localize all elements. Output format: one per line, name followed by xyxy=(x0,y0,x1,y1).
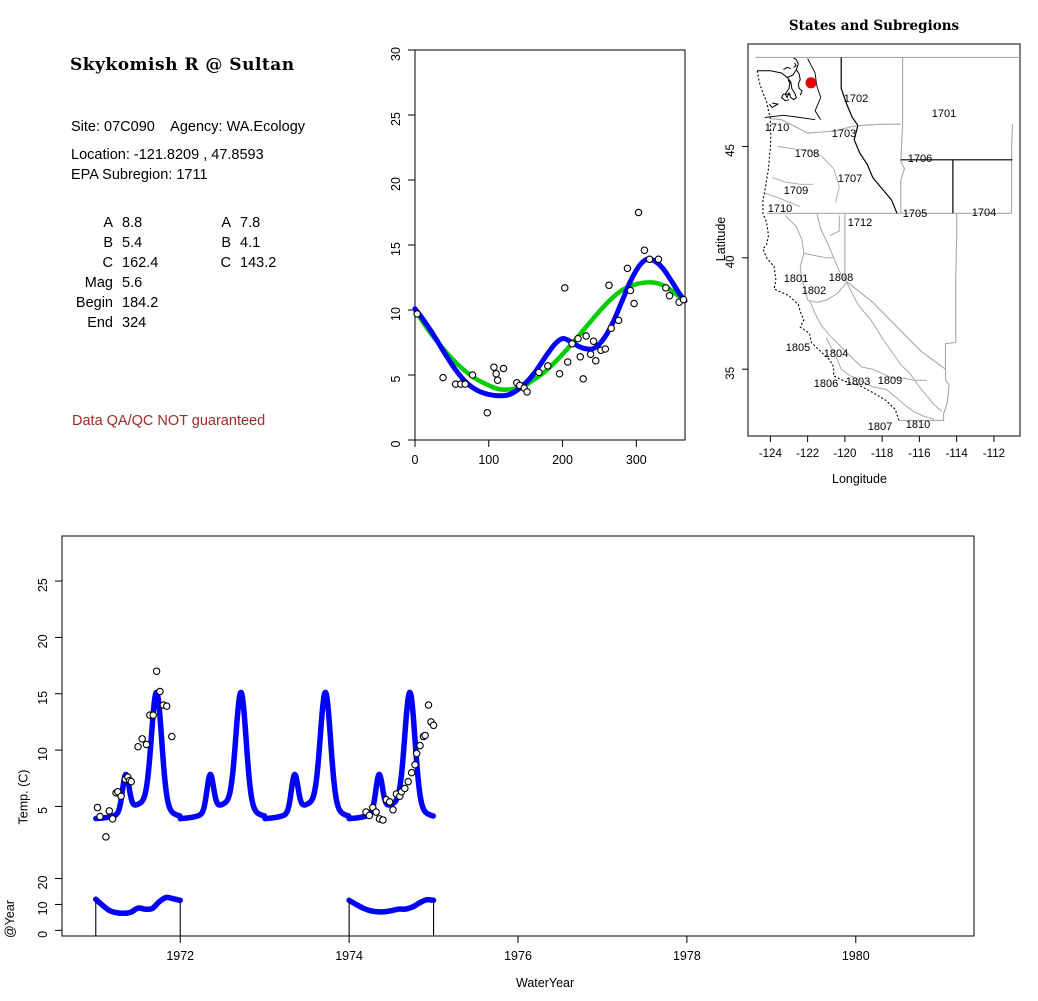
map-panel: States and Subregions -124-122-120-118-1… xyxy=(710,0,1038,500)
subregion-label: 1810 xyxy=(906,419,930,431)
stats-grid: A 8.8 A 7.8 B 5.4 B 4.1 C 162.4 C xyxy=(70,215,276,335)
data-point xyxy=(373,809,379,815)
map-title: States and Subregions xyxy=(710,18,1038,34)
data-point xyxy=(412,762,418,768)
data-point xyxy=(417,742,423,748)
y-tick-label: 25 xyxy=(389,112,403,126)
data-point xyxy=(484,410,490,416)
x-tick-label: -120 xyxy=(833,448,856,460)
x-tick-label: -122 xyxy=(796,448,819,460)
data-point xyxy=(94,804,100,810)
y-tick-label: 10 xyxy=(36,747,50,761)
data-point xyxy=(103,834,109,840)
data-point xyxy=(169,733,175,739)
y-tick-label: 25 xyxy=(36,578,50,592)
y-tick-label: 0 xyxy=(389,440,403,447)
data-point xyxy=(565,359,571,365)
data-point xyxy=(641,247,647,253)
data-point xyxy=(500,365,506,371)
data-point xyxy=(615,317,621,323)
x-tick-label: -118 xyxy=(871,448,893,460)
subregion-label: 1710 xyxy=(768,203,792,215)
data-point xyxy=(536,369,542,375)
subregion-label: 1706 xyxy=(908,153,932,165)
x-tick-label: 1972 xyxy=(166,949,194,963)
data-point xyxy=(430,722,436,728)
subregion-label: 1805 xyxy=(786,342,810,354)
subregion-label: 1701 xyxy=(932,108,956,120)
data-point xyxy=(663,285,669,291)
data-point xyxy=(602,346,608,352)
stat-label: B xyxy=(70,235,122,255)
x-tick-label: 200 xyxy=(552,453,573,467)
subregion-label: 1712 xyxy=(848,217,872,229)
x-tick-label: 100 xyxy=(478,453,499,467)
map-y-axis-title: Latitude xyxy=(714,217,728,261)
subregion-label: 1801 xyxy=(784,273,808,285)
seasonal-scatter-chart: 051015202530 0100200300 xyxy=(380,0,710,500)
data-point xyxy=(569,341,575,347)
data-point xyxy=(150,712,156,718)
subregion-label: 1709 xyxy=(784,185,808,197)
y-tick-label: 5 xyxy=(36,807,50,814)
subregion-label: 1702 xyxy=(844,93,868,105)
x-tick-label: 1978 xyxy=(673,949,701,963)
data-point xyxy=(128,778,134,784)
data-point xyxy=(106,808,112,814)
data-point xyxy=(109,816,115,822)
stat-value: 8.8 xyxy=(122,215,196,235)
data-point xyxy=(366,812,372,818)
data-point xyxy=(386,799,392,805)
subregion-label: 1704 xyxy=(972,207,996,219)
data-point xyxy=(646,256,652,262)
data-point xyxy=(608,325,614,331)
y-tick-label: 10 xyxy=(389,307,403,321)
secondary-y-axis-title: @Year xyxy=(3,900,17,938)
data-point xyxy=(587,351,593,357)
subregion-label: 1710 xyxy=(765,122,789,134)
data-point xyxy=(164,703,170,709)
timeseries-panel: 510152025 01020 19721974197619781980 Wat… xyxy=(0,500,1038,1001)
subregion-label: 1708 xyxy=(795,148,819,160)
x-tick-label: 1974 xyxy=(335,949,363,963)
table-row: Begin 184.2 xyxy=(70,295,276,315)
subregion-label: 1707 xyxy=(838,173,862,185)
y2-tick-label: 20 xyxy=(36,876,50,890)
timeseries-x-axis-title: WaterYear xyxy=(516,976,574,990)
y2-tick-label: 10 xyxy=(36,901,50,915)
data-point xyxy=(680,296,686,302)
y-axis-ticks: 510152025 xyxy=(36,578,62,814)
data-point xyxy=(153,668,159,674)
data-point xyxy=(97,813,103,819)
figure-canvas: Skykomish R @ Sultan Site: 07C090 Agency… xyxy=(0,0,1038,1001)
timeseries-y-axis-title: Temp. (C) xyxy=(16,770,30,825)
data-point xyxy=(524,389,530,395)
stat-value: 162.4 xyxy=(122,255,196,275)
timeseries-chart: 510152025 01020 19721974197619781980 xyxy=(0,500,1038,1001)
map-x-axis-title: Longitude xyxy=(832,472,887,486)
stat-label: C xyxy=(70,255,122,275)
data-point xyxy=(390,807,396,813)
secondary-y-axis-ticks: 01020 xyxy=(36,876,62,938)
stat-value: 143.2 xyxy=(240,255,276,275)
data-point xyxy=(440,374,446,380)
data-point xyxy=(380,817,386,823)
x-tick-label: -124 xyxy=(759,448,783,460)
x-axis-ticks: 0100200300 xyxy=(412,440,647,467)
table-row: End 324 xyxy=(70,315,276,335)
stat-label: Mag xyxy=(70,275,122,295)
seasonal-scatter-panel: 051015202530 0100200300 xyxy=(380,0,710,500)
table-row: B 5.4 B 4.1 xyxy=(70,235,276,255)
y-tick-label: 5 xyxy=(389,375,403,382)
x-tick-label: 1976 xyxy=(504,949,532,963)
data-point xyxy=(157,688,163,694)
data-point xyxy=(402,785,408,791)
subregion-label: 1804 xyxy=(824,348,848,360)
data-point xyxy=(575,335,581,341)
stat-label: A xyxy=(70,215,122,235)
data-point xyxy=(405,778,411,784)
data-point xyxy=(462,381,468,387)
site-location-marker xyxy=(806,77,817,88)
states-subregions-map: -124-122-120-118-116-114-112354045 17021… xyxy=(710,0,1038,500)
x-tick-label: -114 xyxy=(946,448,969,460)
stat-value: 5.4 xyxy=(122,235,196,255)
stat-value: 184.2 xyxy=(122,295,196,315)
data-point xyxy=(422,732,428,738)
y-tick-label: 35 xyxy=(725,367,737,380)
site-info-panel: Skykomish R @ Sultan Site: 07C090 Agency… xyxy=(0,0,380,500)
data-point xyxy=(413,750,419,756)
page-title: Skykomish R @ Sultan xyxy=(70,55,295,75)
location-line: Location: -121.8209 , 47.8593 xyxy=(71,147,264,163)
y-tick-label: 30 xyxy=(389,47,403,61)
y-tick-label: 15 xyxy=(36,691,50,705)
data-point xyxy=(491,364,497,370)
data-point xyxy=(493,371,499,377)
data-point xyxy=(577,354,583,360)
qaqc-warning: Data QA/QC NOT guaranteed xyxy=(72,413,265,429)
data-point xyxy=(562,285,568,291)
subregion-label: 1808 xyxy=(829,272,853,284)
plot-frame xyxy=(62,536,974,936)
x-tick-label: 0 xyxy=(412,453,419,467)
data-point xyxy=(666,293,672,299)
stat-label: C xyxy=(196,255,240,275)
data-point xyxy=(635,209,641,215)
x-tick-label: 300 xyxy=(626,453,647,467)
statistics-table: A 8.8 A 7.8 B 5.4 B 4.1 C 162.4 C xyxy=(70,215,276,335)
data-point xyxy=(627,287,633,293)
y-tick-label: 20 xyxy=(36,634,50,648)
x-tick-label: 1980 xyxy=(842,949,870,963)
x-axis-ticks: 19721974197619781980 xyxy=(166,936,869,963)
table-row: A 8.8 A 7.8 xyxy=(70,215,276,235)
subregion-label: 1806 xyxy=(814,378,838,390)
data-point xyxy=(414,311,420,317)
data-point xyxy=(655,256,661,262)
y-tick-label: 15 xyxy=(389,242,403,256)
data-point xyxy=(408,769,414,775)
y-axis-ticks: 051015202530 xyxy=(389,47,415,447)
subregion-label: 1705 xyxy=(903,208,927,220)
stat-label: Begin xyxy=(70,295,122,315)
data-point xyxy=(425,702,431,708)
data-point xyxy=(469,372,475,378)
data-point xyxy=(139,736,145,742)
y2-tick-label: 0 xyxy=(36,931,50,938)
stat-value: 324 xyxy=(122,315,196,335)
data-point xyxy=(556,371,562,377)
site-agency-line: Site: 07C090 Agency: WA.Ecology xyxy=(71,119,305,135)
data-point xyxy=(580,376,586,382)
subregion-label: 1703 xyxy=(832,128,856,140)
data-point xyxy=(583,333,589,339)
stat-value: 5.6 xyxy=(122,275,196,295)
data-point xyxy=(118,793,124,799)
x-tick-label: -116 xyxy=(908,448,930,460)
subregion-label: 1809 xyxy=(878,375,902,387)
data-point xyxy=(545,363,551,369)
subregion-label: 1802 xyxy=(802,285,826,297)
epa-subregion-line: EPA Subregion: 1711 xyxy=(71,167,208,183)
data-point xyxy=(590,338,596,344)
table-row: C 162.4 C 143.2 xyxy=(70,255,276,275)
table-row: Mag 5.6 xyxy=(70,275,276,295)
data-point xyxy=(143,741,149,747)
subregion-label: 1807 xyxy=(868,421,892,433)
stat-label: B xyxy=(196,235,240,255)
y-tick-label: 20 xyxy=(389,177,403,191)
subregion-label: 1803 xyxy=(846,376,870,388)
stat-label: End xyxy=(70,315,122,335)
stat-label: A xyxy=(196,215,240,235)
data-point xyxy=(606,282,612,288)
data-point xyxy=(135,744,141,750)
data-point xyxy=(624,265,630,271)
data-point xyxy=(593,358,599,364)
x-tick-label: -112 xyxy=(983,448,1005,460)
y-tick-label: 45 xyxy=(725,144,737,157)
stat-value: 7.8 xyxy=(240,215,276,235)
data-point xyxy=(631,300,637,306)
stat-value: 4.1 xyxy=(240,235,276,255)
data-point xyxy=(494,377,500,383)
